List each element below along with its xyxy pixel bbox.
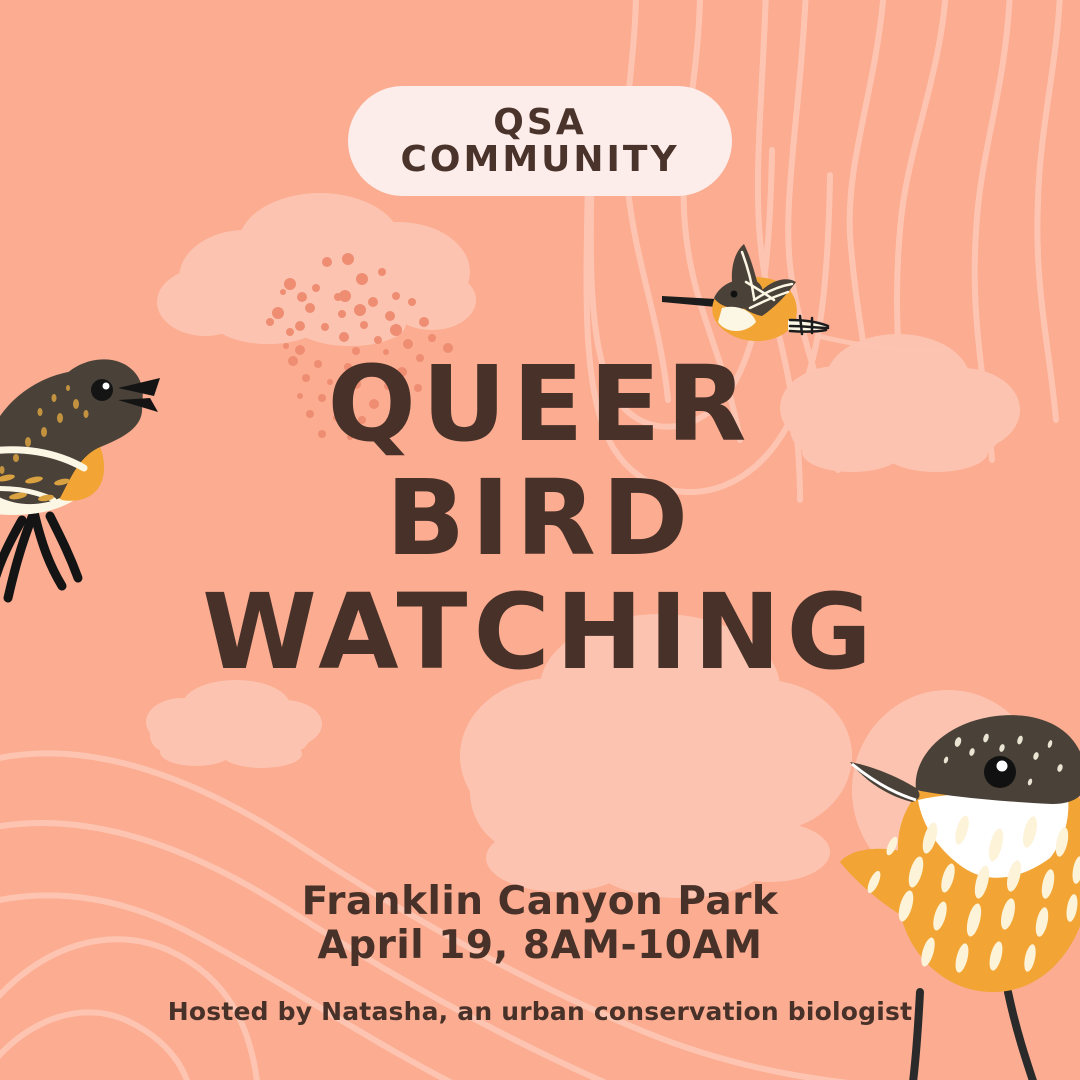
cloud-top-left bbox=[157, 193, 476, 346]
badge-line-1: QSA bbox=[493, 104, 586, 141]
cloud-bottom-right-blob bbox=[852, 690, 1044, 890]
title-line-1: QUEER bbox=[0, 352, 1080, 456]
title-line-2: BIRD bbox=[0, 466, 1080, 570]
bird-hummingbird bbox=[662, 244, 944, 350]
title-line-3: WATCHING bbox=[0, 580, 1080, 684]
badge-line-2: COMMUNITY bbox=[400, 141, 679, 178]
event-date-time: April 19, 8AM-10AM bbox=[0, 924, 1080, 968]
event-poster: QSA COMMUNITY QUEER BIRD WATCHING Frankl… bbox=[0, 0, 1080, 1080]
event-venue: Franklin Canyon Park bbox=[0, 880, 1080, 924]
poster-title: QUEER BIRD WATCHING bbox=[0, 352, 1080, 684]
qsa-community-badge[interactable]: QSA COMMUNITY bbox=[348, 86, 732, 196]
event-details: Franklin Canyon Park April 19, 8AM-10AM … bbox=[0, 880, 1080, 1026]
cloud-left-small bbox=[146, 680, 322, 768]
event-host: Hosted by Natasha, an urban conservation… bbox=[0, 997, 1080, 1026]
